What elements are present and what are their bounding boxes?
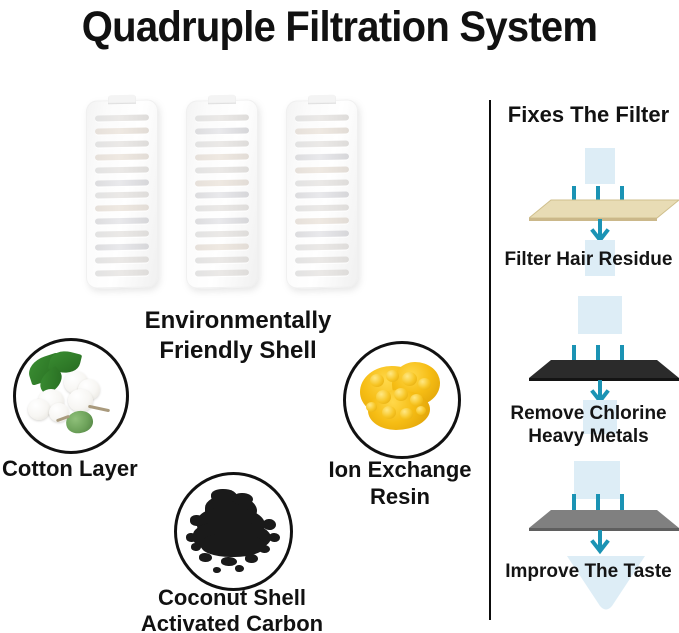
vent-slot: [195, 127, 249, 134]
stage-label-hair: Filter Hair Residue: [498, 248, 679, 271]
vent-slot: [195, 244, 249, 251]
vent-slot: [295, 192, 349, 199]
vent-slot: [195, 114, 249, 121]
activated-carbon-icon: [177, 475, 290, 588]
cartridge-tab: [308, 95, 336, 105]
vent-slot: [295, 179, 349, 186]
vent-slot: [95, 231, 149, 238]
vent-slot: [195, 192, 249, 199]
vent-slot: [295, 256, 349, 263]
panel-heading: Fixes The Filter: [498, 102, 679, 128]
vent-slot: [95, 244, 149, 251]
vent-slot: [295, 218, 349, 225]
cartridge-vents: [95, 114, 149, 276]
vent-slot: [195, 256, 249, 263]
vent-slot: [95, 127, 149, 134]
vent-slot: [195, 179, 249, 186]
infographic-page: Quadruple Filtration System: [0, 0, 679, 633]
vent-slot: [195, 269, 249, 276]
vent-slot: [195, 205, 249, 212]
carbon-label: Coconut Shell Activated Carbon: [133, 585, 331, 633]
shell-label: Environmentally Friendly Shell: [118, 306, 358, 366]
water-block: [578, 296, 622, 334]
vent-slot: [295, 269, 349, 276]
cartridge-vents: [295, 114, 349, 276]
vent-slot: [95, 179, 149, 186]
cartridge-tab: [108, 95, 136, 105]
filter-cartridge: [86, 99, 158, 288]
vent-slot: [95, 205, 149, 212]
cartridge-tab: [208, 95, 236, 105]
vent-slot: [295, 205, 349, 212]
vent-slot: [95, 114, 149, 121]
vent-slot: [95, 218, 149, 225]
vent-slot: [295, 244, 349, 251]
cotton-label: Cotton Layer: [2, 456, 138, 482]
stage-label-taste: Improve The Taste: [498, 560, 679, 583]
filter-cartridge: [286, 99, 358, 288]
vent-slot: [95, 269, 149, 276]
cotton-badge: [13, 338, 129, 454]
vent-slot: [95, 140, 149, 147]
vent-slot: [195, 166, 249, 173]
ion-resin-beads-icon: [346, 344, 458, 456]
vent-slot: [95, 192, 149, 199]
vent-slot: [295, 127, 349, 134]
vent-slot: [195, 140, 249, 147]
vent-slot: [295, 140, 349, 147]
vent-slot: [295, 166, 349, 173]
resin-label: Ion Exchange Resin: [320, 456, 480, 510]
vent-slot: [195, 218, 249, 225]
filter-cartridges-group: [86, 100, 360, 300]
vent-slot: [195, 231, 249, 238]
cartridge-vents: [195, 114, 249, 276]
carbon-badge: [174, 472, 293, 591]
vent-slot: [95, 153, 149, 160]
vent-slot: [295, 153, 349, 160]
page-title: Quadruple Filtration System: [24, 2, 655, 52]
vent-slot: [95, 256, 149, 263]
water-block: [585, 148, 615, 184]
filter-cartridge: [186, 99, 258, 288]
section-divider: [489, 100, 491, 620]
stage-label-chlorine: Remove Chlorine Heavy Metals: [498, 402, 679, 448]
vent-slot: [295, 231, 349, 238]
cotton-boll-icon: [16, 341, 126, 451]
vent-slot: [295, 114, 349, 121]
vent-slot: [95, 166, 149, 173]
vent-slot: [195, 153, 249, 160]
resin-badge: [343, 341, 461, 459]
